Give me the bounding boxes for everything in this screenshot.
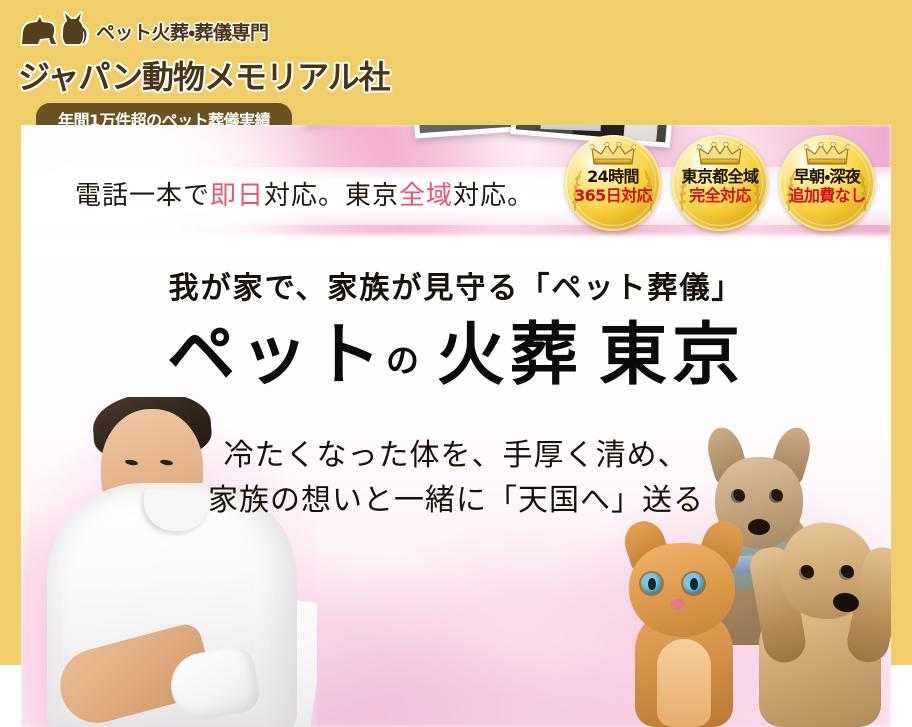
hero-tagline: 電話一本で即日対応。東京全域対応。 xyxy=(75,175,534,212)
site-header: ペット火葬・葬儀専門 ジャパン動物メモリアル社 年間1万件超のペット葬儀実績 xyxy=(0,0,912,125)
title-part-pet: ペット xyxy=(167,317,386,393)
pet-casket xyxy=(541,125,602,131)
orange-tabby-kitten xyxy=(619,519,747,727)
page-title: ペットの火葬東京 xyxy=(21,321,891,389)
badge-line1: 早朝・深夜 xyxy=(794,168,860,186)
title-part-kasou: 火葬 xyxy=(437,317,583,393)
crown-icon xyxy=(804,142,850,166)
tagline-highlight-sokujitsu: 即日 xyxy=(210,181,264,210)
badge-no-extra-fee: 早朝・深夜 追加費なし xyxy=(779,135,875,231)
kitten-chest xyxy=(657,639,711,727)
tagline-part2: 対応。東京 xyxy=(264,181,399,210)
badge-line2: 完全対応 xyxy=(689,187,751,205)
landing-page: ペット火葬・葬儀専門 ジャパン動物メモリアル社 年間1万件超のペット葬儀実績 電… xyxy=(0,0,912,727)
trust-badges: 24時間 365日対応 xyxy=(565,135,875,231)
hero-section: 電話一本で即日対応。東京全域対応。 xyxy=(0,125,912,727)
title-particle-no: の xyxy=(386,344,421,380)
crown-icon xyxy=(697,142,743,166)
kitten-nose xyxy=(671,599,685,609)
hero-canvas: 電話一本で即日対応。東京全域対応。 xyxy=(21,125,891,727)
brand-top-row: ペット火葬・葬儀専門 xyxy=(16,8,456,54)
dachshund-eye-left xyxy=(799,565,814,580)
dachshund-eye-right xyxy=(839,565,854,580)
pets-group-photo xyxy=(619,427,891,727)
badge-line2: 追加費なし xyxy=(788,187,865,205)
kitten-pupil-left xyxy=(648,578,656,590)
badge-24h: 24時間 365日対応 xyxy=(565,135,661,231)
hero-kicker-heading: 我が家で、家族が見守る「ペット葬儀」 xyxy=(21,263,891,307)
tagline-highlight-zeniki: 全域 xyxy=(399,181,453,210)
brand-kicker: ペット火葬・葬儀専門 xyxy=(96,18,268,45)
tagline-part3: 対応。 xyxy=(453,181,534,210)
achievement-badge: 年間1万件超のペット葬儀実績 xyxy=(36,103,292,125)
crown-icon xyxy=(590,142,636,166)
badge-line2: 365日対応 xyxy=(574,187,652,205)
dog-cat-silhouette-icon xyxy=(16,10,90,52)
gold-rail-left xyxy=(0,125,21,665)
company-name: ジャパン動物メモリアル社 xyxy=(18,52,456,98)
tagline-part1: 電話一本で xyxy=(75,181,210,210)
kitten-pupil-right xyxy=(690,578,698,590)
gold-rail-right xyxy=(891,125,912,665)
badge-line1: 24時間 xyxy=(587,168,639,186)
brand-block[interactable]: ペット火葬・葬儀専門 ジャパン動物メモリアル社 年間1万件超のペット葬儀実績 xyxy=(16,8,456,125)
badge-tokyo-coverage: 東京都全域 完全対応 xyxy=(672,135,768,231)
badge-line1: 東京都全域 xyxy=(681,168,758,186)
dachshund-dog xyxy=(751,501,891,727)
title-part-tokyo: 東京 xyxy=(599,317,745,393)
